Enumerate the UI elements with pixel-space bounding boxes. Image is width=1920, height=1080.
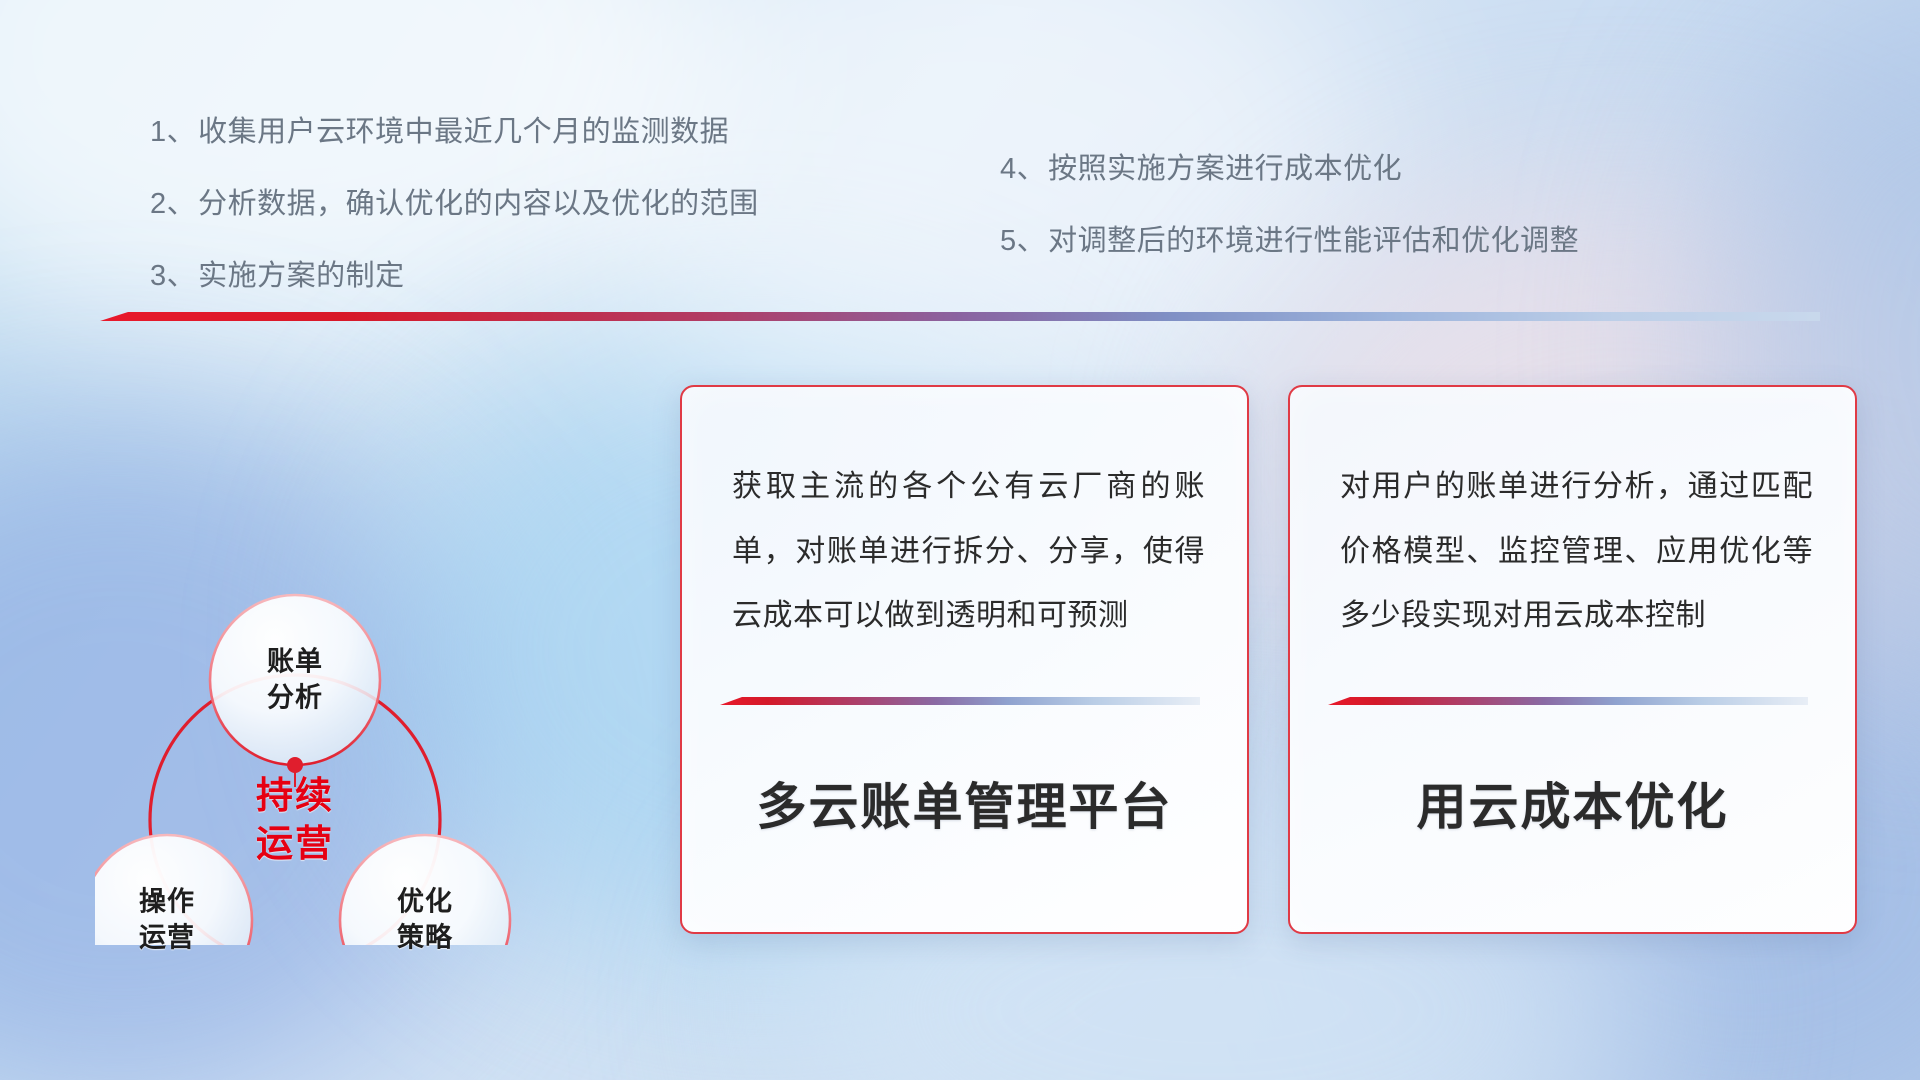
step-item-5: 5、对调整后的环境进行性能评估和优化调整 bbox=[1000, 227, 1579, 256]
venn-diagram: 账单 分析 操作 运营 优化 策略 持续 运营 bbox=[95, 355, 655, 945]
steps-left-column: 1、收集用户云环境中最近几个月的监测数据 2、分析数据，确认优化的内容以及优化的… bbox=[150, 118, 759, 334]
step-text-4: 按照实施方案进行成本优化 bbox=[1048, 153, 1402, 185]
steps-right-column: 4、按照实施方案进行成本优化 5、对调整后的环境进行性能评估和优化调整 bbox=[1000, 155, 1579, 299]
feature-card-1-body: 获取主流的各个公有云厂商的账单，对账单进行拆分、分享，使得云成本可以做到透明和可… bbox=[732, 455, 1205, 649]
feature-card-2-title: 用云成本优化 bbox=[1290, 767, 1855, 839]
section-divider bbox=[100, 312, 1820, 321]
venn-node-label-right: 优化 策略 bbox=[345, 884, 505, 955]
step-text-1: 收集用户云环境中最近几个月的监测数据 bbox=[198, 116, 729, 148]
step-number-4: 4、 bbox=[1000, 153, 1046, 185]
step-number-3: 3、 bbox=[150, 260, 196, 292]
feature-card-1-title: 多云账单管理平台 bbox=[682, 767, 1247, 839]
step-number-2: 2、 bbox=[150, 188, 196, 220]
feature-card-1-rule bbox=[720, 697, 1200, 705]
feature-card-2[interactable]: 对用户的账单进行分析，通过匹配价格模型、监控管理、应用优化等多少段实现对用云成本… bbox=[1288, 385, 1857, 934]
process-steps: 1、收集用户云环境中最近几个月的监测数据 2、分析数据，确认优化的内容以及优化的… bbox=[0, 0, 1920, 300]
step-text-3: 实施方案的制定 bbox=[198, 260, 405, 292]
step-text-2: 分析数据，确认优化的内容以及优化的范围 bbox=[198, 188, 759, 220]
feature-card-2-rule bbox=[1328, 697, 1808, 705]
step-item-2: 2、分析数据，确认优化的内容以及优化的范围 bbox=[150, 190, 759, 219]
feature-card-1[interactable]: 获取主流的各个公有云厂商的账单，对账单进行拆分、分享，使得云成本可以做到透明和可… bbox=[680, 385, 1249, 934]
step-text-5: 对调整后的环境进行性能评估和优化调整 bbox=[1048, 225, 1579, 257]
step-item-3: 3、实施方案的制定 bbox=[150, 262, 759, 291]
feature-card-2-body: 对用户的账单进行分析，通过匹配价格模型、监控管理、应用优化等多少段实现对用云成本… bbox=[1340, 455, 1813, 649]
step-number-1: 1、 bbox=[150, 116, 196, 148]
step-item-1: 1、收集用户云环境中最近几个月的监测数据 bbox=[150, 118, 759, 147]
step-number-5: 5、 bbox=[1000, 225, 1046, 257]
venn-dot-top bbox=[287, 757, 303, 773]
venn-center-label: 持续 运营 bbox=[195, 772, 395, 868]
venn-node-label-top: 账单 分析 bbox=[215, 644, 375, 715]
step-item-4: 4、按照实施方案进行成本优化 bbox=[1000, 155, 1579, 184]
venn-node-label-left: 操作 运营 bbox=[87, 884, 247, 955]
